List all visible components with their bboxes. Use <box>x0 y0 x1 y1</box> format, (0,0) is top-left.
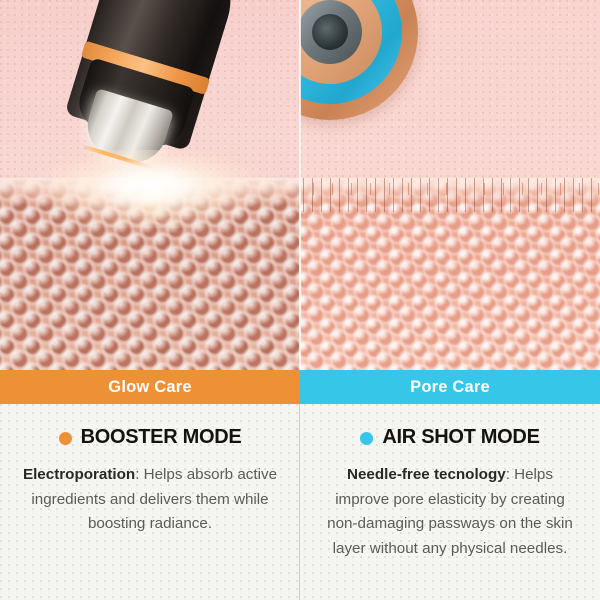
glow-care-text-column: BOOSTER MODE Electroporation: Helps abso… <box>0 404 300 600</box>
product-comparison-infographic: Glow Care Pore Care BOOSTER MODE Electro… <box>0 0 600 600</box>
glow-care-image-panel <box>0 0 300 370</box>
pore-care-band-label: Pore Care <box>300 370 600 404</box>
description-section: BOOSTER MODE Electroporation: Helps abso… <box>0 404 600 600</box>
imagery-section <box>0 0 600 370</box>
bullet-dot-icon <box>59 432 72 445</box>
bullet-dot-icon <box>360 432 373 445</box>
needle-free-micro-channels <box>300 178 600 212</box>
booster-mode-separator: : <box>135 466 143 483</box>
imagery-center-divider <box>299 0 301 370</box>
air-shot-mode-separator: : <box>506 466 514 483</box>
mode-label-band: Glow Care Pore Care <box>0 370 600 404</box>
pore-skin-cross-section <box>300 178 600 370</box>
air-shot-mode-heading: AIR SHOT MODE <box>360 426 539 449</box>
booster-mode-heading: BOOSTER MODE <box>59 426 242 449</box>
pore-care-image-panel <box>300 0 600 370</box>
description-center-divider <box>299 404 300 600</box>
glow-care-band-label: Glow Care <box>0 370 300 404</box>
air-shot-mode-description: Needle-free tecnology: Helps improve por… <box>322 463 578 562</box>
booster-mode-title: BOOSTER MODE <box>81 426 242 449</box>
air-shot-mode-term: Needle-free tecnology <box>347 466 506 483</box>
air-shot-mode-title: AIR SHOT MODE <box>382 426 539 449</box>
booster-mode-term: Electroporation <box>23 466 135 483</box>
air-shot-nozzle-device <box>300 0 432 134</box>
booster-wand-device <box>49 0 244 203</box>
booster-mode-description: Electroporation: Helps absorb active ing… <box>22 463 278 537</box>
pore-care-text-column: AIR SHOT MODE Needle-free tecnology: Hel… <box>300 404 600 600</box>
